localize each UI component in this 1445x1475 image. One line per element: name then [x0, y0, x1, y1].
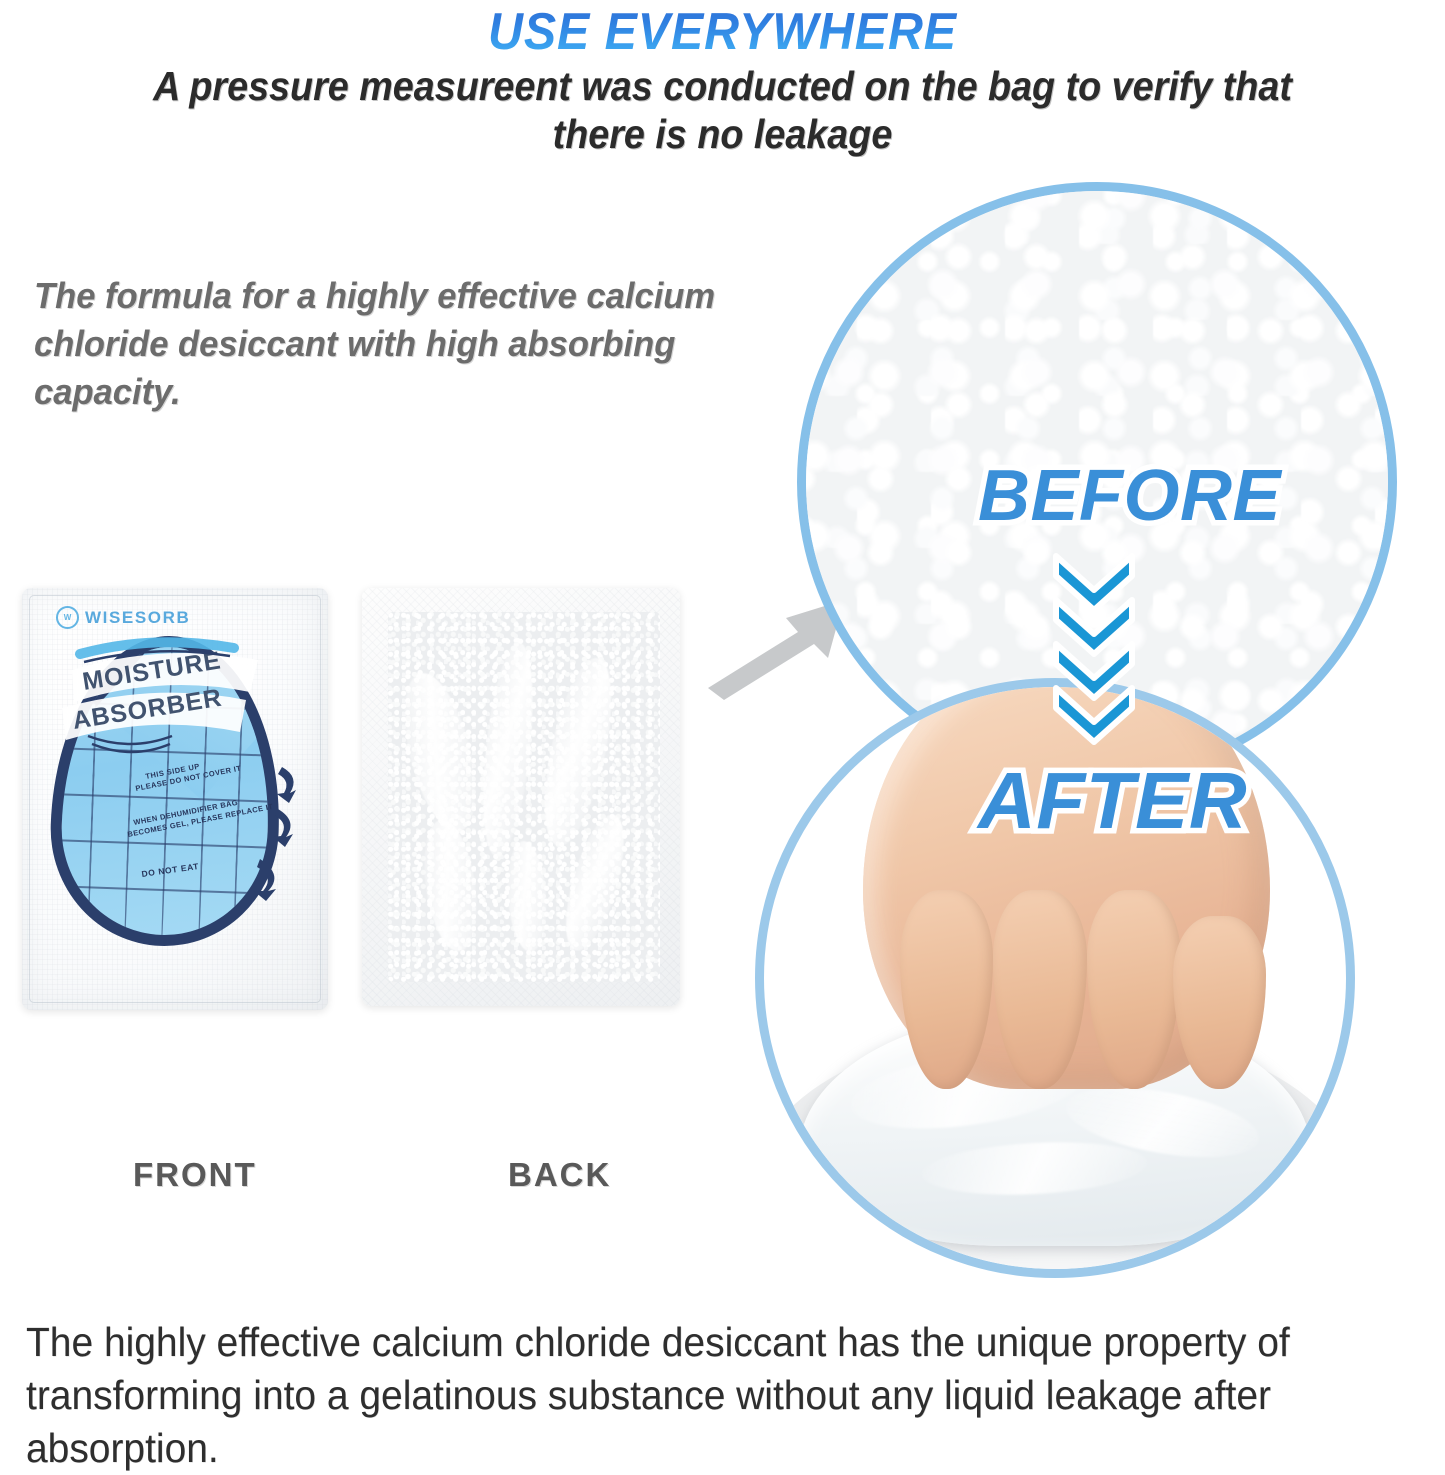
wisesorb-badge-icon: W [56, 606, 79, 629]
note-1-line2: BECOMES GEL, PLEASE REPLACE IT [127, 802, 274, 839]
note-1-line1: WHEN DEHUMIDIFIER BAG [133, 798, 239, 827]
page-subtitle: A pressure measureent was conducted on t… [104, 62, 1341, 158]
downward-chevron-stack [1052, 552, 1136, 742]
sachet-back-image [362, 588, 680, 1006]
curved-arrow-icon [254, 859, 276, 901]
curved-arrow-icon [273, 809, 293, 847]
moisture-text: MOISTURE [81, 646, 224, 696]
globe-parallel [47, 700, 286, 711]
absorber-text: ABSORBER [71, 684, 225, 735]
globe-meridian [123, 632, 137, 950]
brand-logo: W WISESORB [56, 606, 190, 629]
front-view-label: FRONT [133, 1156, 257, 1194]
formula-description: The formula for a highly effective calci… [34, 272, 764, 416]
page-title: USE EVERYWHERE [51, 2, 1395, 62]
after-label: AFTER [978, 755, 1247, 847]
globe-parallel [47, 838, 286, 849]
sachet-front-image: W WISESORB MOISTURE ABSORBER [22, 588, 328, 1010]
brand-name-label: WISESORB [85, 608, 190, 628]
back-view-label: BACK [508, 1156, 611, 1194]
globe-meridian [197, 632, 211, 950]
note-2-line1: DO NOT EAT [141, 861, 200, 879]
header-block: USE EVERYWHERE A pressure measureent was… [0, 0, 1445, 180]
water-droplet-globe-icon [47, 632, 286, 950]
moisture-absorber-banner: MOISTURE ABSORBER [44, 636, 294, 761]
globe-meridian [160, 632, 174, 950]
sachet-back-window [388, 612, 660, 982]
instruction-notes: THIS SIDE UP PLEASE DO NOT COVER IT WHEN… [132, 763, 317, 918]
globe-meridian [86, 632, 100, 950]
footer-description: The highly effective calcium chloride de… [26, 1316, 1356, 1475]
sachet-front-artwork: W WISESORB MOISTURE ABSORBER [22, 588, 328, 1010]
globe-meridian [232, 632, 246, 950]
globe-parallel [47, 792, 286, 803]
note-0-line2: PLEASE DO NOT COVER IT [135, 764, 242, 793]
note-0-line1: THIS SIDE UP [145, 762, 201, 781]
before-label: BEFORE [978, 455, 1281, 537]
globe-parallel [47, 746, 286, 757]
chevron-down-icon [1052, 684, 1136, 746]
curved-arrow-icon [277, 767, 296, 803]
globe-parallel [47, 885, 286, 896]
